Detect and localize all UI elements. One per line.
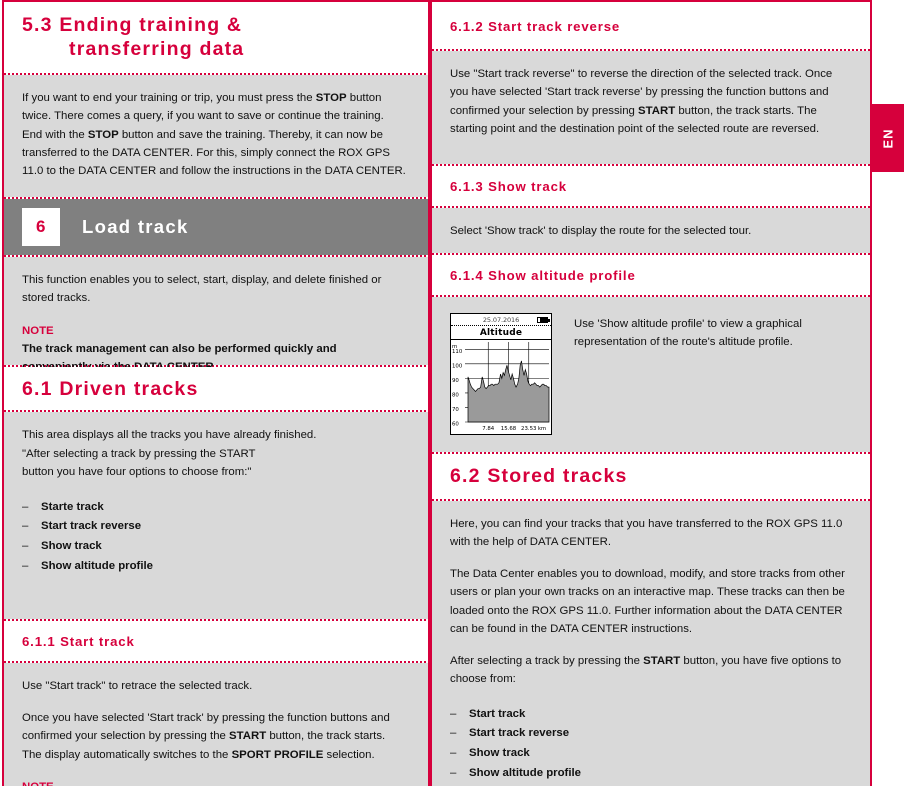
section-6-2-paragraph-3: After selecting a track by pressing the … [450,652,848,689]
list-item-label: Start track [469,708,525,720]
device-date: 25.07.2016 [483,316,519,324]
chapter-6-banner: 6 Load track [4,199,428,255]
list-item-label: Start track reverse [41,520,141,532]
section-6-2-body: Here, you can find your tracks that you … [432,501,870,786]
list-item-label: Show track [469,747,530,759]
chapter-6-intro-text: This function enables you to select, sta… [22,271,406,308]
section-6-1-4-body: 25.07.2016 Altitude 11010090807060m7.841… [432,297,870,452]
altitude-profile-row: 25.07.2016 Altitude 11010090807060m7.841… [432,297,870,453]
section-6-1-2-heading-block: 6.1.2 Start track reverse [432,2,870,49]
manual-page: 5.3 Ending training & transferring data … [0,0,904,786]
list-item: –Show track [22,537,406,557]
section-6-1-2-paragraph: Use "Start track reverse" to reverse the… [450,65,848,139]
section-6-1-options-list: –Starte track –Start track reverse –Show… [22,498,406,577]
altitude-chart: 11010090807060m7.8415.6823.53km [451,340,551,435]
language-tab-label: EN [881,128,896,148]
dash-icon: – [450,724,456,744]
section-6-2-heading-block: 6.2 Stored tracks [432,454,870,499]
section-6-1-title: 6.1 Driven tracks [4,367,428,411]
list-item: –Start track reverse [450,724,848,744]
dash-icon: – [450,705,456,725]
section-6-1-line-3: button you have four options to choose f… [22,463,406,481]
section-6-1-3-paragraph: Select 'Show track' to display the route… [450,222,848,240]
svg-text:15.68: 15.68 [501,426,517,432]
chapter-number-badge: 6 [22,208,60,246]
section-5-3-heading-block: 5.3 Ending training & transferring data [4,2,428,73]
left-column: 5.3 Ending training & transferring data … [2,0,430,786]
list-item: –Show altitude profile [450,764,848,784]
svg-text:m: m [452,344,457,350]
dash-icon: – [22,537,28,557]
device-screenshot: 25.07.2016 Altitude 11010090807060m7.841… [450,313,552,435]
svg-text:100: 100 [452,363,463,369]
list-item-label: Start track reverse [469,727,569,739]
section-6-1-4-description: Use 'Show altitude profile' to view a gr… [552,313,852,435]
section-6-1-line-1: This area displays all the tracks you ha… [22,426,406,444]
section-5-3-title-line2: transferring data [22,38,410,62]
list-item: –Start track [450,705,848,725]
section-6-1-1-body: Use "Start track" to retrace the selecte… [4,663,428,786]
section-5-3-body: If you want to end your training or trip… [4,75,428,197]
section-6-1-4-title: 6.1.4 Show altitude profile [432,255,870,295]
section-5-3-paragraph: If you want to end your training or trip… [22,89,406,181]
section-6-1-heading-block: 6.1 Driven tracks [4,367,428,411]
section-5-3-title-line1: 5.3 Ending training & [22,14,242,36]
note-label: NOTE [22,779,406,786]
note-label: NOTE [22,323,406,340]
section-6-1-3-body: Select 'Show track' to display the route… [432,208,870,253]
svg-text:80: 80 [452,393,459,399]
svg-text:70: 70 [452,407,459,413]
section-5-3-title: 5.3 Ending training & transferring data [4,2,428,73]
section-6-1-1-title: 6.1.1 Start track [4,621,428,661]
chapter-title: Load track [82,216,189,238]
section-6-1-1-paragraph-2: Once you have selected 'Start track' by … [22,709,406,764]
svg-text:60: 60 [452,422,459,428]
section-6-1-4-heading-block: 6.1.4 Show altitude profile [432,255,870,295]
section-6-1-1-heading-block: 6.1.1 Start track [4,621,428,661]
dash-icon: – [450,764,456,784]
list-item-label: Starte track [41,501,104,513]
section-6-2-paragraph-1: Here, you can find your tracks that you … [450,515,848,552]
section-6-1-3-heading-block: 6.1.3 Show track [432,166,870,206]
section-6-1-line-2: "After selecting a track by pressing the… [22,445,406,463]
right-column: 6.1.2 Start track reverse Use "Start tra… [430,0,872,786]
list-item-label: Show altitude profile [41,560,153,572]
section-6-2-options-list: –Start track –Start track reverse –Show … [450,705,848,786]
device-status-bar: 25.07.2016 [451,314,551,326]
section-6-1-1-paragraph-1: Use "Start track" to retrace the selecte… [22,677,406,695]
svg-text:90: 90 [452,378,459,384]
battery-icon [537,317,548,323]
device-screen-title: Altitude [451,326,551,340]
altitude-chart-svg: 11010090807060m7.8415.6823.53km [451,340,551,434]
section-6-2-title: 6.2 Stored tracks [432,454,870,499]
list-item: –Starte track [22,498,406,518]
svg-text:km: km [538,426,546,432]
svg-text:23.53: 23.53 [521,426,536,432]
dash-icon: – [450,744,456,764]
list-item-label: Show track [41,540,102,552]
svg-text:7.84: 7.84 [482,426,495,432]
chapter-6-intro-block: This function enables you to select, sta… [4,257,428,365]
section-6-1-2-body: Use "Start track reverse" to reverse the… [432,51,870,164]
section-6-2-paragraph-2: The Data Center enables you to download,… [450,565,848,639]
dash-icon: – [22,557,28,577]
list-item: –Start track reverse [22,517,406,537]
list-item: –Show track [450,744,848,764]
section-6-1-3-title: 6.1.3 Show track [432,166,870,206]
section-6-1-body: This area displays all the tracks you ha… [4,412,428,619]
dash-icon: – [22,517,28,537]
section-6-1-2-title: 6.1.2 Start track reverse [432,2,870,49]
list-item-label: Show altitude profile [469,767,581,779]
list-item: –Show altitude profile [22,557,406,577]
language-tab-en[interactable]: EN [872,104,904,172]
dash-icon: – [22,498,28,518]
